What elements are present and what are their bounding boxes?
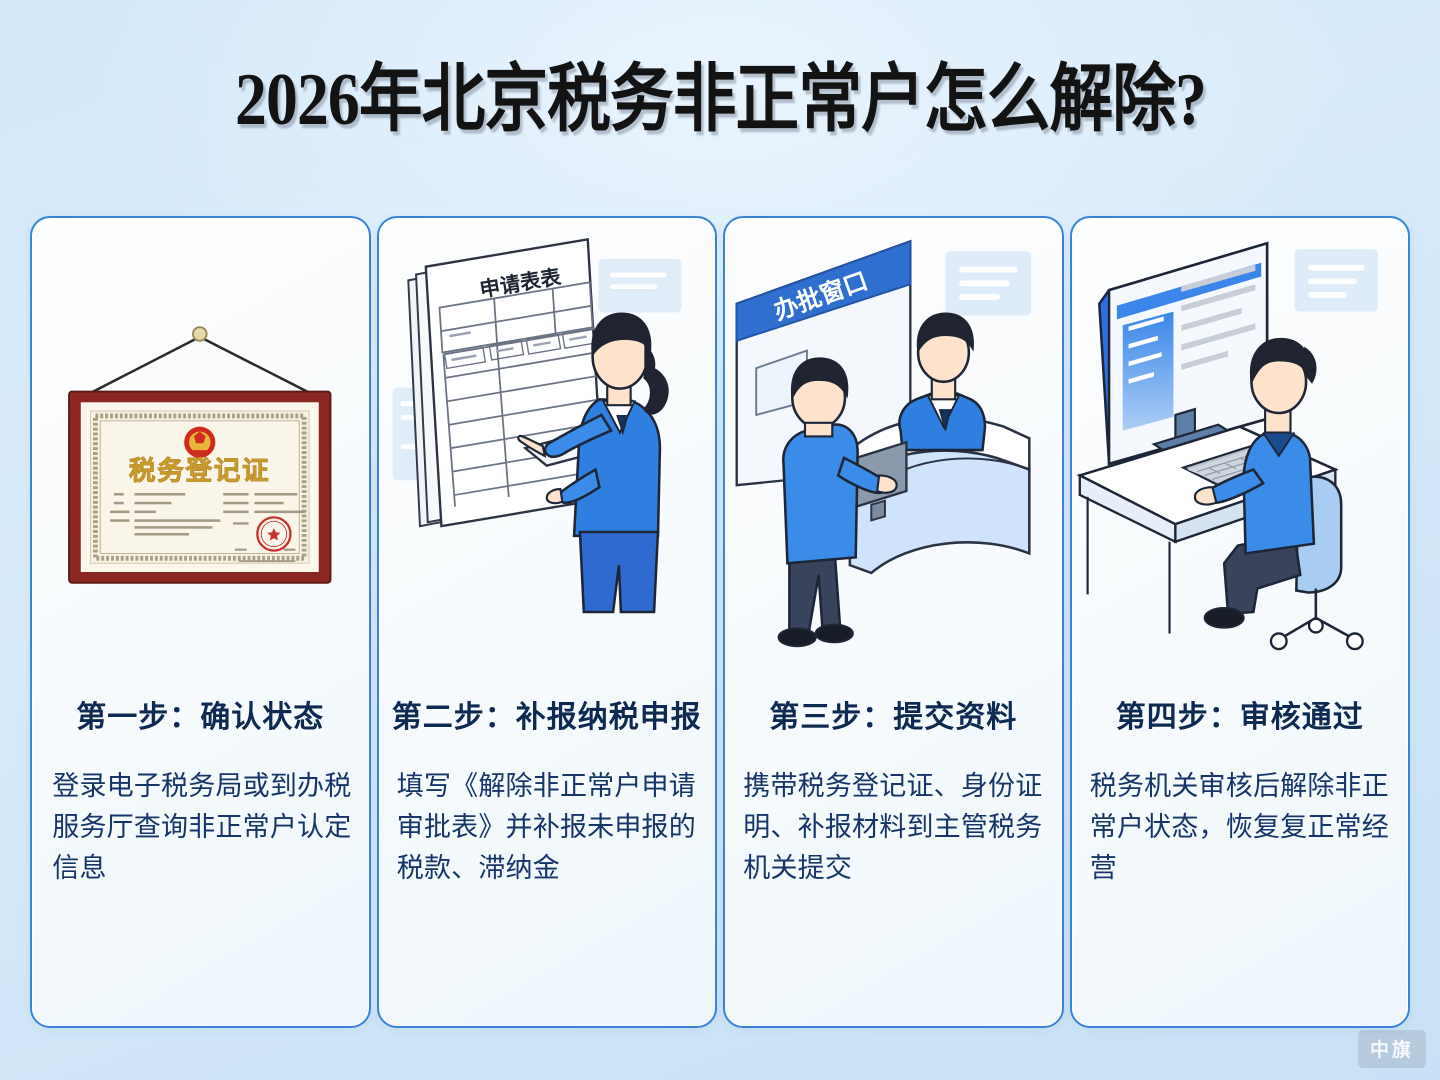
decorative-panel <box>1294 249 1378 311</box>
illustration-service-counter: 办批窗口 <box>725 218 1062 688</box>
step-card-4[interactable]: 第四步：审核通过 税务机关审核后解除非正常户状态，恢复复正常经营 <box>1070 216 1411 1028</box>
step-description: 登录电子税务局或到办税服务厅查询非正常户认定信息 <box>52 766 352 889</box>
step-description: 携带税务登记证、身份证明、补报材料到主管税务机关提交 <box>743 766 1043 889</box>
certificate-frame: 税务登记证 <box>69 392 330 583</box>
step-description: 税务机关审核后解除非正常户状态，恢复复正常经营 <box>1090 766 1390 889</box>
step-title: 第二步：补报纳税申报 <box>392 692 702 736</box>
step-title: 第一步：确认状态 <box>76 692 324 736</box>
illustration-computer-review <box>1072 218 1409 688</box>
steps-container: 税务登记证 <box>30 216 1410 1028</box>
certificate-heading: 税务登记证 <box>129 455 270 485</box>
decorative-panel <box>945 251 1031 315</box>
step-description: 填写《解除非正常户申请审批表》并补报未申报的税款、滞纳金 <box>397 766 697 889</box>
step-title: 第四步：审核通过 <box>1116 692 1364 736</box>
page-title: 2026年北京税务非正常户怎么解除? <box>235 63 1206 137</box>
illustration-application-form: 申请表表 <box>379 218 716 688</box>
national-emblem-icon <box>184 427 215 458</box>
step-card-1[interactable]: 税务登记证 <box>30 216 371 1028</box>
clerk-figure <box>899 314 985 451</box>
watermark: 中旗 <box>1358 1030 1426 1068</box>
illustration-framed-certificate: 税务登记证 <box>32 218 369 688</box>
step-title: 第三步：提交资料 <box>769 692 1017 736</box>
step-card-3[interactable]: 办批窗口 <box>723 216 1064 1028</box>
title-bar: 2026年北京税务非正常户怎么解除? <box>0 0 1440 200</box>
step-card-2[interactable]: 申请表表 <box>377 216 718 1028</box>
